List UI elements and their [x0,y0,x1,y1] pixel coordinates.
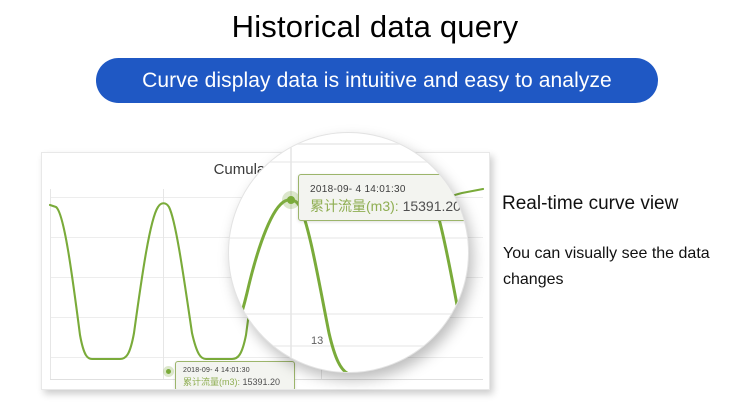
magnified-tooltip-metric-label: 累计流量(m3): [310,198,399,214]
subtitle-banner-text: Curve display data is intuitive and easy… [142,69,612,93]
magnified-tooltip-timestamp: 2018-09- 4 14:01:30 [310,182,469,197]
annotation-heading: Real-time curve view [502,193,678,215]
magnified-tooltip-metric-value: 15391.20 [403,198,461,214]
magnifier-content: 2018-09- 4 14:01:30 累计流量(m3): 15391.20 1… [229,133,469,373]
magnified-tooltip: 2018-09- 4 14:01:30 累计流量(m3): 15391.20 [298,174,469,221]
magnified-tooltip-value-row: 累计流量(m3): 15391.20 [310,197,469,216]
page-title: Historical data query [0,6,750,48]
magnifier-lens: 2018-09- 4 14:01:30 累计流量(m3): 15391.20 1… [228,132,469,373]
magnified-curve-right-segment [439,219,469,373]
annotation-body: You can visually see the data changes [503,241,718,293]
chart-tooltip-metric-value: 15391.20 [243,377,281,387]
magnified-x-axis-tick-label: 13 [311,335,323,347]
chart-tooltip-value-row: 累计流量(m3): 15391.20 [183,376,288,388]
magnified-cumulative-flow-curve [229,200,349,373]
magnified-chart [229,133,469,373]
chart-highlight-marker [163,366,174,377]
chart-tooltip-metric-label: 累计流量(m3): [183,377,240,387]
subtitle-banner: Curve display data is intuitive and easy… [96,58,658,103]
